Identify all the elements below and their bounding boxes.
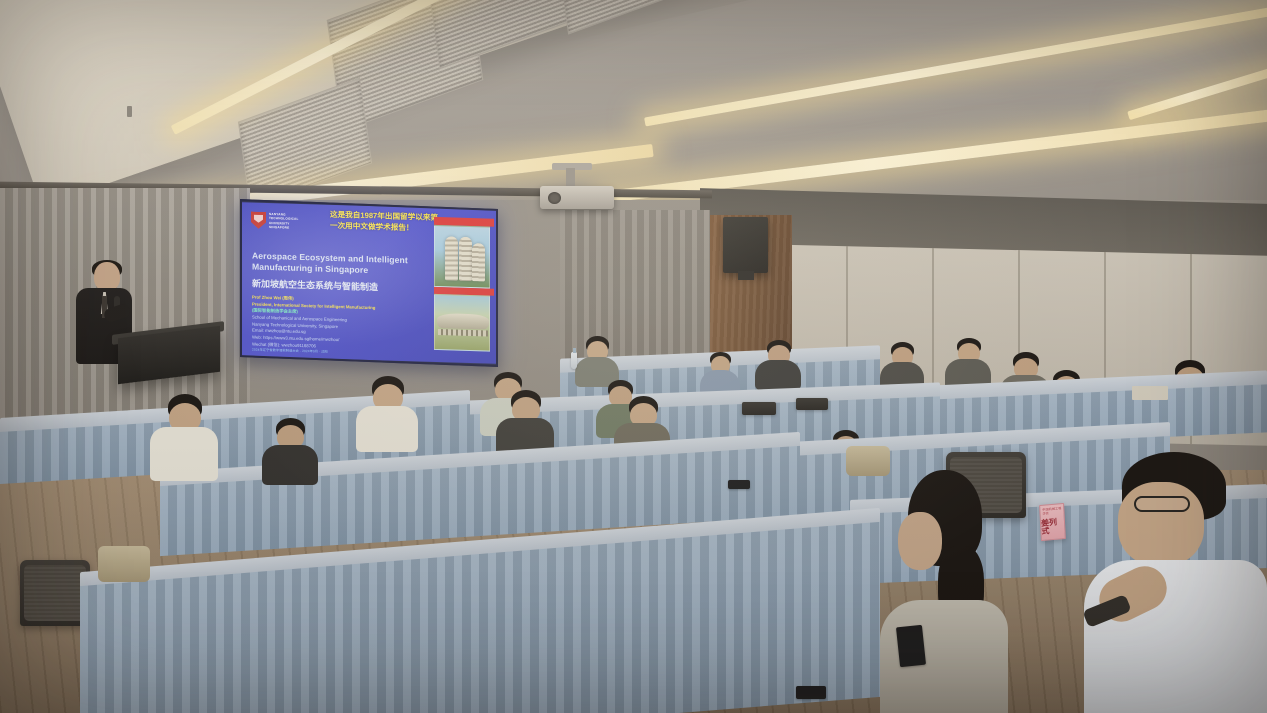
attendee	[700, 352, 740, 392]
attendee	[356, 376, 418, 448]
slide-title-en: Aerospace Ecosystem and Intelligent Manu…	[252, 251, 438, 279]
ceiling	[0, 0, 1267, 215]
tent-card-org: 中国机械工程学会	[1042, 506, 1063, 516]
attendee	[945, 338, 991, 386]
cove-light	[644, 7, 1267, 127]
notebook	[796, 398, 828, 410]
name-tent-card: 中国机械工程学会 姜列式	[1039, 503, 1066, 541]
attendee	[496, 390, 554, 456]
slide-title-cn: 新加坡航空生态系统与智能制造	[252, 279, 438, 296]
slide-image-hive	[434, 225, 490, 289]
projection-screen: NANYANG TECHNOLOGICAL UNIVERSITY SINGAPO…	[240, 199, 498, 367]
notebook	[742, 402, 776, 415]
phone	[796, 686, 826, 699]
presenter-head	[94, 262, 120, 291]
ntu-logo-text: NANYANG TECHNOLOGICAL UNIVERSITY SINGAPO…	[269, 212, 299, 230]
shield-icon	[251, 211, 266, 228]
tent-card-name: 姜列式	[1041, 518, 1065, 536]
conference-room-photo: NANYANG TECHNOLOGICAL UNIVERSITY SINGAPO…	[0, 0, 1267, 713]
projector-lens-icon	[548, 192, 561, 204]
attendee	[262, 418, 318, 480]
projector-icon	[540, 186, 614, 209]
ntu-line-4: SINGAPORE	[269, 225, 299, 230]
phone	[896, 625, 926, 667]
water-bottle	[571, 352, 577, 369]
slide-headline: 这是我自1987年出国留学以来第一次用中文做学术报告！	[330, 210, 442, 235]
slide-byline: Prof Zhou Wei (周伟) President, Internatio…	[252, 295, 447, 354]
wall-speaker-icon	[723, 217, 768, 273]
slide-image-aerial	[434, 294, 490, 352]
speaker-bracket	[738, 271, 754, 280]
presentation-slide: NANYANG TECHNOLOGICAL UNIVERSITY SINGAPO…	[242, 202, 496, 364]
attendee	[880, 342, 924, 388]
ntu-logo: NANYANG TECHNOLOGICAL UNIVERSITY SINGAPO…	[251, 211, 299, 229]
eyeglasses-icon	[1134, 496, 1190, 512]
phone	[728, 480, 750, 489]
sprinkler-icon	[127, 106, 132, 117]
attendee	[880, 470, 1000, 713]
bag	[98, 546, 150, 582]
attendee	[1078, 452, 1267, 713]
paper-sheet	[1132, 386, 1168, 400]
attendee	[150, 394, 218, 476]
attendee	[755, 340, 801, 386]
attendee	[575, 336, 619, 384]
